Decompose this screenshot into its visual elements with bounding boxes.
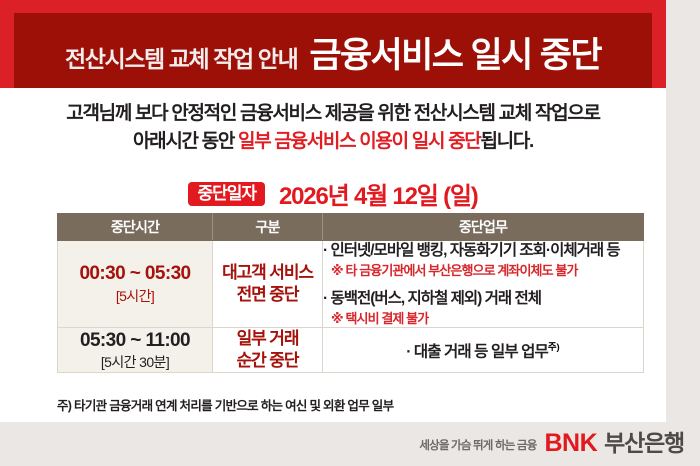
header-banner-text: 전산시스템 교체 작업 안내 금융서비스 일시 중단 xyxy=(65,27,601,78)
intro-line-2: 아래시간 동안 일부 금융서비스 이용이 일시 중단됩니다. xyxy=(14,128,652,156)
frame-bar-top xyxy=(0,0,666,13)
category-line-2-row1: 전면 중단 xyxy=(213,284,322,306)
service-bullet-1: · 인터넷/모바일 뱅킹, 자동화기기 조회·이체거래 등 xyxy=(323,241,643,260)
bnk-logo-mark: BNK xyxy=(544,431,597,456)
cell-time-row2: 05:30 ~ 11:00 [5시간 30분] xyxy=(58,328,213,373)
service-text-row2: · 대출 거래 등 일부 업무 xyxy=(406,344,548,361)
footnote-text: 주) 타기관 금융거래 연계 처리를 기반으로 하는 여신 및 외환 업무 일부 xyxy=(57,395,393,414)
category-line-2-row2: 순간 중단 xyxy=(213,350,322,372)
category-line-1-row2: 일부 거래 xyxy=(213,328,322,350)
time-range-row1: 00:30 ~ 05:30 xyxy=(58,263,212,286)
column-header-service: 중단업무 xyxy=(323,214,644,241)
frame-bar-right xyxy=(652,0,666,88)
date-badge: 중단일자 xyxy=(188,182,265,206)
table-row: 05:30 ~ 11:00 [5시간 30분] 일부 거래 순간 중단 · 대출… xyxy=(58,328,644,373)
bank-name: 부산은행 xyxy=(604,432,684,455)
footer-bar: 세상을 가슴 뛰게 하는 금융 BNK 부산은행 xyxy=(0,422,700,466)
table-head: 중단시간 구분 중단업무 xyxy=(58,214,644,241)
notice-poster: 전산시스템 교체 작업 안내 금융서비스 일시 중단 고객님께 보다 안정적인 … xyxy=(0,0,700,466)
brand-slogan: 세상을 가슴 뛰게 하는 금융 xyxy=(419,437,536,453)
frame-bar-left xyxy=(0,0,14,88)
table-body: 00:30 ~ 05:30 [5시간] 대고객 서비스 전면 중단 · 인터넷/… xyxy=(58,241,644,373)
service-group-2: · 동백전(버스, 지하철 제외) 거래 전체 ※ 택시비 결제 불가 xyxy=(323,289,643,328)
time-duration-row2: [5시간 30분] xyxy=(58,354,212,371)
intro-line-2-highlight: 일부 금융서비스 이용이 일시 중단 xyxy=(238,131,480,152)
intro-line-1: 고객님께 보다 안정적인 금융서비스 제공을 위한 전산시스템 교체 작업으로 xyxy=(14,100,652,128)
suspension-schedule-table: 중단시간 구분 중단업무 00:30 ~ 05:30 [5시간] 대고객 서비스… xyxy=(57,213,644,373)
intro-line-2-prefix: 아래시간 동안 xyxy=(133,131,238,152)
intro-paragraph: 고객님께 보다 안정적인 금융서비스 제공을 위한 전산시스템 교체 작업으로 … xyxy=(14,100,652,155)
date-value: 2026년 4월 12일 (일) xyxy=(279,176,478,211)
banner-subtitle: 전산시스템 교체 작업 안내 xyxy=(65,40,297,74)
table-header-row: 중단시간 구분 중단업무 xyxy=(58,214,644,241)
cell-category-row1: 대고객 서비스 전면 중단 xyxy=(213,241,323,328)
time-range-row2: 05:30 ~ 11:00 xyxy=(58,330,212,353)
cell-service-row2: · 대출 거래 등 일부 업무주) xyxy=(323,328,644,373)
service-bullet-2: · 동백전(버스, 지하철 제외) 거래 전체 xyxy=(323,289,643,308)
column-header-time: 중단시간 xyxy=(58,214,213,241)
suspension-date-row: 중단일자 2026년 4월 12일 (일) xyxy=(14,176,652,211)
table-row: 00:30 ~ 05:30 [5시간] 대고객 서비스 전면 중단 · 인터넷/… xyxy=(58,241,644,328)
service-footnote-marker: 주) xyxy=(548,342,560,353)
time-duration-row1: [5시간] xyxy=(58,288,212,305)
cell-category-row2: 일부 거래 순간 중단 xyxy=(213,328,323,373)
header-banner: 전산시스템 교체 작업 안내 금융서비스 일시 중단 xyxy=(14,13,652,88)
service-note-2: ※ 택시비 결제 불가 xyxy=(331,311,643,327)
brand-logo: 세상을 가슴 뛰게 하는 금융 BNK 부산은행 xyxy=(419,431,684,456)
column-header-category: 구분 xyxy=(213,214,323,241)
category-line-1-row1: 대고객 서비스 xyxy=(213,262,322,284)
intro-line-2-suffix: 됩니다. xyxy=(480,131,533,152)
service-note-1: ※ 타 금융기관에서 부산은행으로 계좌이체도 불가 xyxy=(331,263,643,279)
content-frame: 전산시스템 교체 작업 안내 금융서비스 일시 중단 고객님께 보다 안정적인 … xyxy=(0,0,666,422)
banner-title: 금융서비스 일시 중단 xyxy=(309,27,601,78)
cell-time-row1: 00:30 ~ 05:30 [5시간] xyxy=(58,241,213,328)
cell-service-row1: · 인터넷/모바일 뱅킹, 자동화기기 조회·이체거래 등 ※ 타 금융기관에서… xyxy=(323,241,644,328)
service-group-1: · 인터넷/모바일 뱅킹, 자동화기기 조회·이체거래 등 ※ 타 금융기관에서… xyxy=(323,241,643,280)
